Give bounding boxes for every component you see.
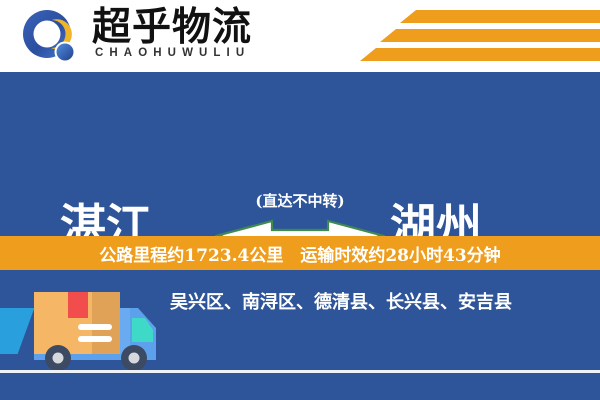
- stripe-2: [380, 29, 600, 42]
- distance-duration-bar: 公路里程约1723.4公里 运输时效约28小时43分钟: [0, 236, 600, 270]
- coverage-districts-text: 吴兴区、南浔区、德清县、长兴县、安吉县: [170, 288, 512, 314]
- logistics-route-card: 超乎物流 CHAOHUWULIU 湛江 (直达不中转) 【往返运输】 湖州 公路…: [0, 0, 600, 400]
- delivery-truck-icon: [26, 280, 166, 372]
- header-bar: 超乎物流 CHAOHUWULIU: [0, 0, 600, 72]
- direct-service-note: (直达不中转): [0, 190, 600, 211]
- distance-duration-text: 公路里程约1723.4公里 运输时效约28小时43分钟: [99, 241, 500, 266]
- stripe-1: [400, 10, 600, 23]
- orange-speed-stripes-icon: [320, 8, 600, 66]
- coverage-panel: 吴兴区、南浔区、德清县、长兴县、安吉县: [0, 270, 600, 400]
- stripe-3: [360, 48, 600, 61]
- road-divider-line: [0, 370, 600, 373]
- brand-name-cn: 超乎物流: [92, 6, 252, 48]
- circle-crescent-logo-icon: [22, 9, 78, 65]
- route-panel: 湛江 (直达不中转) 【往返运输】 湖州: [0, 72, 600, 236]
- brand-name-en: CHAOHUWULIU: [95, 47, 250, 59]
